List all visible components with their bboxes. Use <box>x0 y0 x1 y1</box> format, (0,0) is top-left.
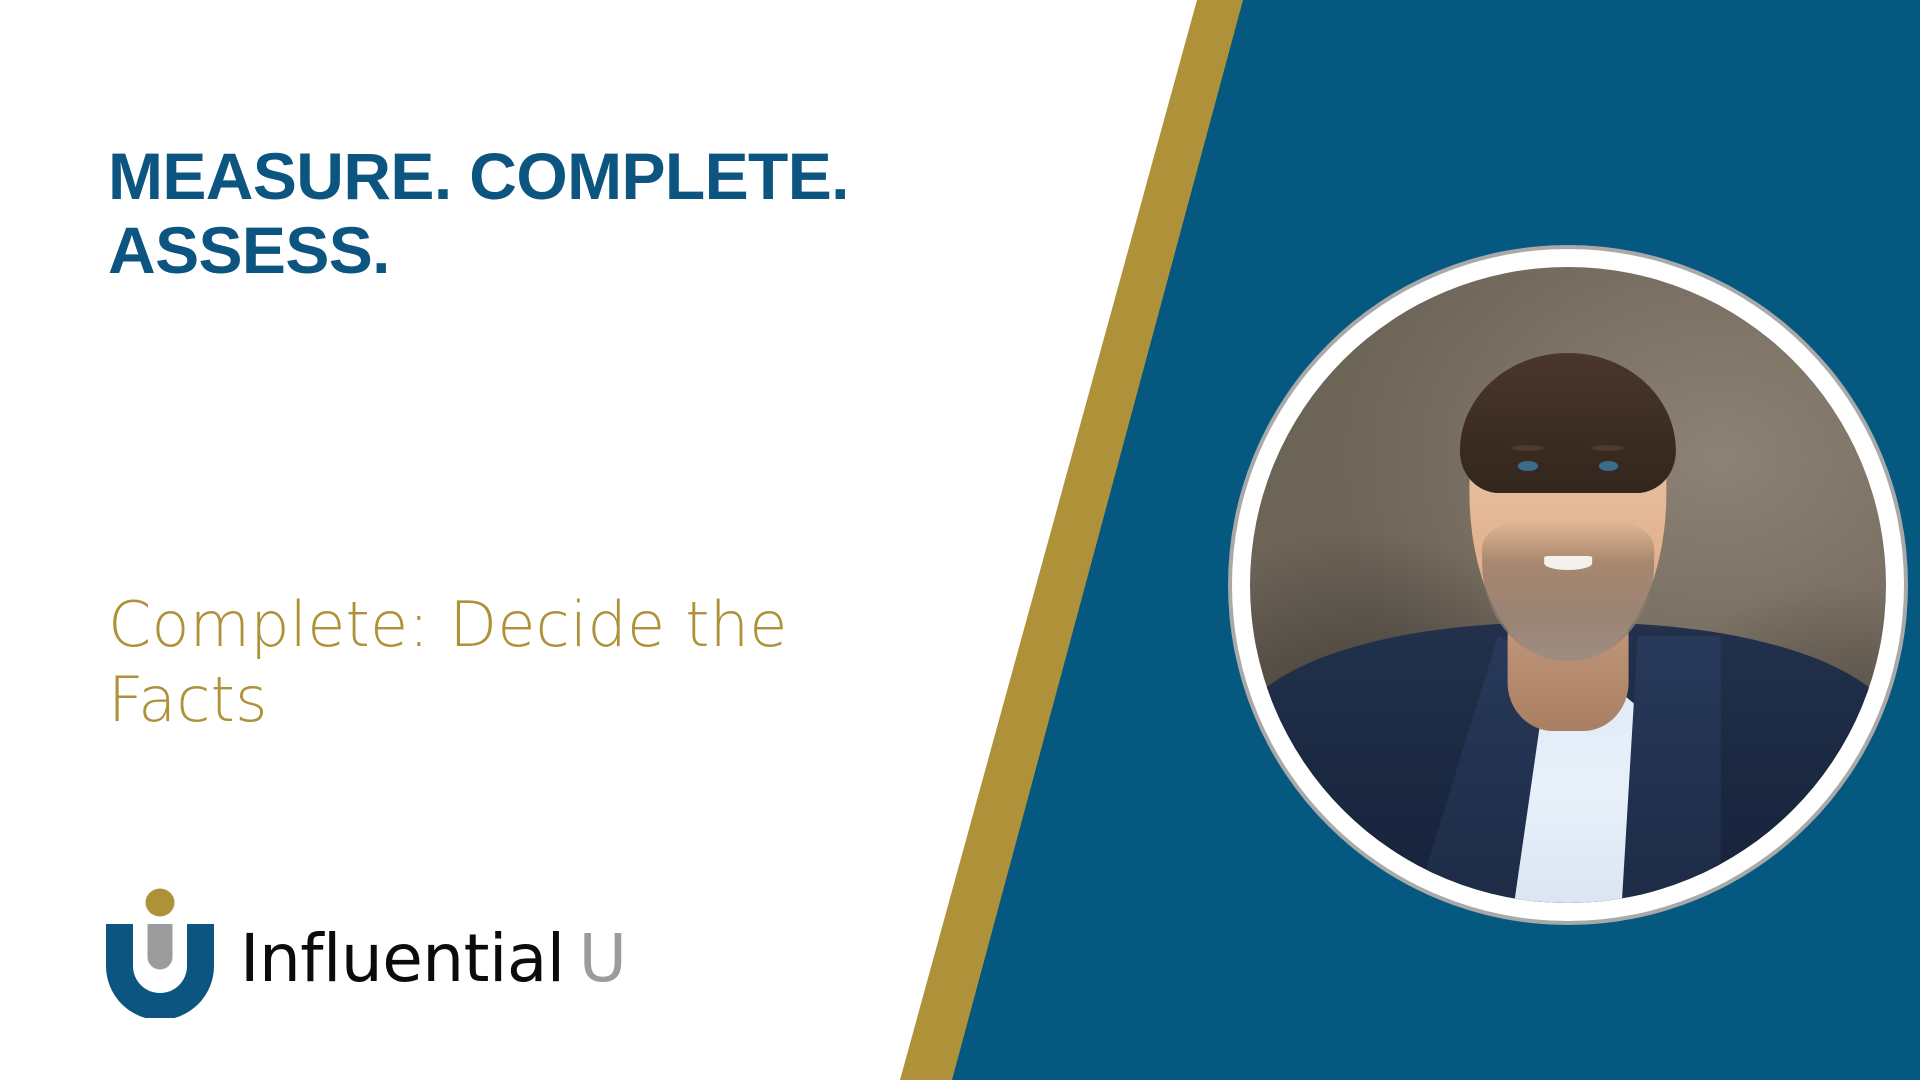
page-title: MEASURE. COMPLETE. ASSESS. <box>108 140 1118 288</box>
photo-eye-left <box>1518 461 1538 471</box>
avatar-ring <box>1232 249 1904 921</box>
influential-u-logo-mark-icon <box>106 888 214 1018</box>
speaker-headshot-photo <box>1250 267 1886 903</box>
brand-logo: InfluentialU <box>106 888 626 1018</box>
logo-wordmark: InfluentialU <box>240 926 626 992</box>
logo-wordmark-secondary: U <box>579 920 627 997</box>
presentation-slide: MEASURE. COMPLETE. ASSESS. Complete: Dec… <box>0 0 1920 1080</box>
logo-wordmark-primary: Influential <box>240 920 565 997</box>
slide-subtitle: Complete: Decide the Facts <box>108 588 938 737</box>
avatar <box>1228 245 1908 925</box>
photo-eye-right <box>1599 461 1619 471</box>
